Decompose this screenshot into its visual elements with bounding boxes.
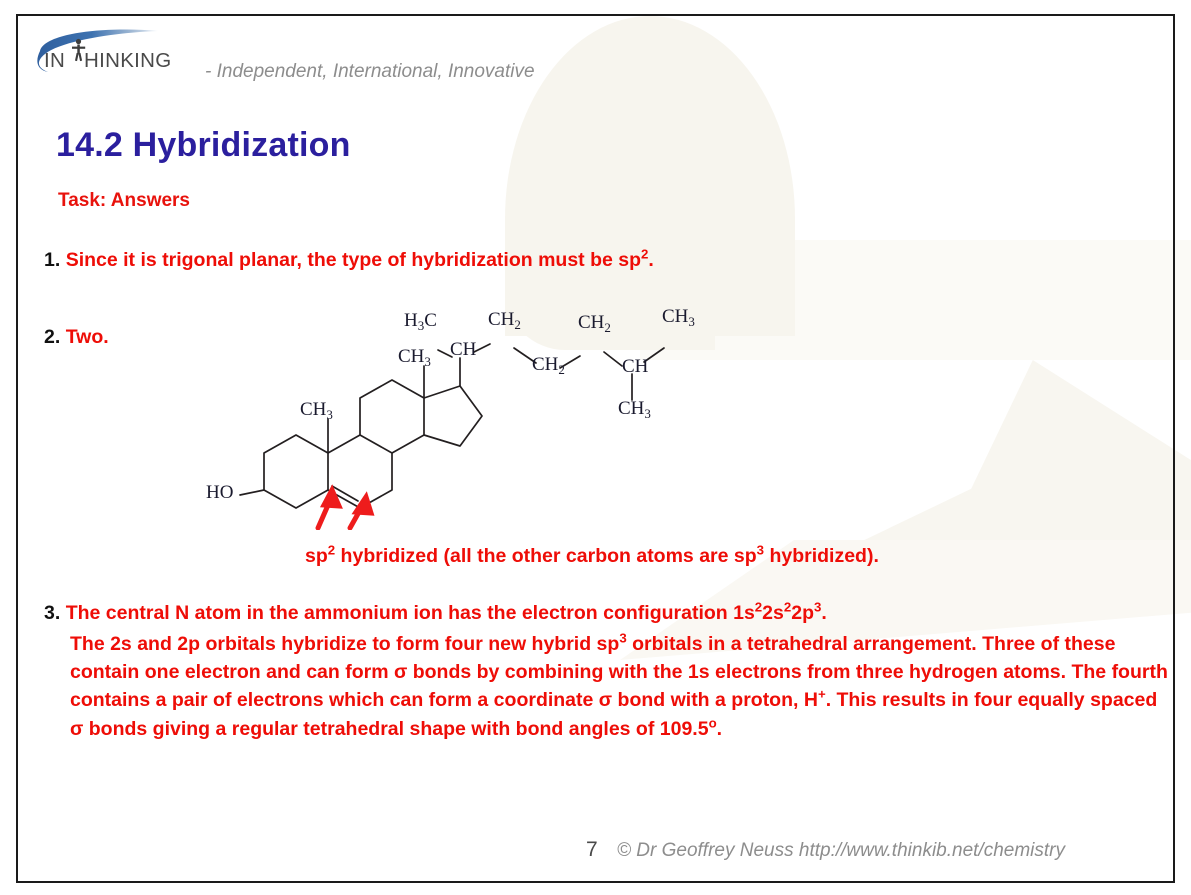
label-ch3-c19: CH3	[300, 399, 333, 422]
logo-wordmark-right: HINKING	[84, 49, 172, 72]
caption-part1: sp	[305, 545, 328, 567]
swoosh-person-logo-icon: IN HINKING	[30, 28, 200, 80]
label-ch3-c27: CH3	[618, 398, 651, 421]
answer-1-text: Since it is trigonal planar, the type of…	[66, 249, 641, 271]
section-subtitle: Task: Answers	[58, 190, 190, 212]
answer-3-body: The 2s and 2p orbitals hybridize to form…	[70, 630, 1175, 744]
caption-part2: hybridized (all the other carbon atoms a…	[335, 545, 757, 567]
answer-2-number: 2.	[44, 326, 60, 348]
answer-1: 1. Since it is trigonal planar, the type…	[44, 251, 654, 271]
answer-3-body-sup-plus: +	[818, 687, 826, 702]
answer-1-number: 1.	[44, 249, 60, 271]
page-number: 7	[586, 838, 598, 862]
copyright-notice: © Dr Geoffrey Neuss http://www.thinkib.n…	[617, 840, 1065, 862]
annotation-arrows	[318, 490, 371, 528]
caption-part3: hybridized).	[764, 545, 879, 567]
answer-3-line1-c: 2p	[791, 602, 814, 624]
brand-tagline: - Independent, International, Innovative	[205, 61, 535, 83]
answer-3-line1-b: 2s	[762, 602, 784, 624]
answer-3-body-sup-deg: o	[709, 715, 717, 730]
caption-sup2: 3	[757, 543, 764, 558]
label-ch3-c18: CH3	[398, 346, 431, 369]
brand-logo: IN HINKING - Independent, International,…	[30, 28, 590, 80]
answer-2: 2. Two.	[44, 328, 109, 348]
answer-3-line1: 3. The central N atom in the ammonium io…	[44, 604, 1174, 624]
label-ch3-c26: CH3	[662, 306, 695, 329]
slide-footer: 7 © Dr Geoffrey Neuss http://www.thinkib…	[0, 838, 1191, 878]
answer-3-body-d: .	[717, 718, 722, 740]
logo-wordmark-left: IN	[44, 49, 65, 72]
label-ch-c25: CH	[622, 356, 649, 377]
slide: IN HINKING - Independent, International,…	[0, 0, 1191, 895]
cholesterol-structure: HO CH3 CH3 H3C CH CH2 CH2 CH2 CH CH3 CH3	[198, 300, 718, 530]
label-ch2-c22: CH2	[488, 309, 521, 332]
answer-3: 3. The central N atom in the ammonium io…	[44, 604, 1174, 743]
answer-3-line1-d: .	[821, 602, 826, 624]
answer-3-body-a: The 2s and 2p orbitals hybridize to form…	[70, 633, 619, 655]
answer-3-line1-a: The central N atom in the ammonium ion h…	[66, 602, 755, 624]
page-title: 14.2 Hybridization	[56, 126, 351, 165]
answer-3-number: 3.	[44, 602, 60, 624]
label-ch2-c23: CH2	[532, 354, 565, 377]
label-ch-c20: CH	[450, 339, 477, 360]
answer-2-text: Two.	[66, 326, 109, 348]
cholesterol-diagram-icon: HO CH3 CH3 H3C CH CH2 CH2 CH2 CH CH3 CH3	[198, 300, 718, 530]
answer-1-text-end: .	[648, 249, 653, 271]
label-h3c-c21: H3C	[404, 310, 437, 333]
label-ch2-c24: CH2	[578, 312, 611, 335]
answer-3-body-sup-sp3: 3	[619, 630, 626, 645]
label-hydroxyl: HO	[206, 482, 233, 503]
molecule-caption: sp2 hybridized (all the other carbon ato…	[305, 545, 879, 568]
watermark-band	[640, 240, 1191, 360]
